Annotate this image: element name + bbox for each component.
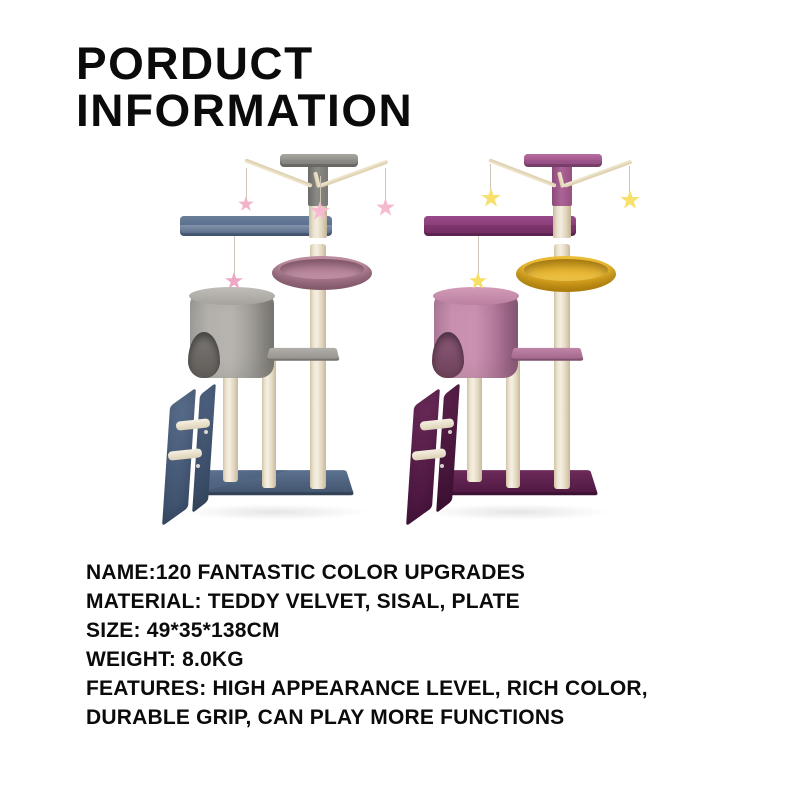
condo-entrance	[432, 332, 464, 378]
top-platform	[280, 154, 358, 167]
toy-string-right	[629, 166, 630, 192]
spec-line-weight: WEIGHT: 8.0KG	[86, 645, 766, 674]
bowl-bed-inner	[524, 259, 608, 281]
small-shelf	[510, 348, 583, 361]
top-platform-surface	[280, 154, 358, 160]
condo-house	[190, 294, 274, 378]
cat-tree-blue-grey	[170, 148, 410, 523]
spec-line-material: MATERIAL: TEDDY VELVET, SISAL, PLATE	[86, 587, 766, 616]
dangle-string-mid	[234, 236, 235, 274]
toy-string-center	[320, 176, 321, 204]
spec-line-features-2: DURABLE GRIP, CAN PLAY MORE FUNCTIONS	[86, 703, 766, 732]
small-shelf	[266, 348, 339, 361]
upper-post-sisal	[553, 202, 571, 238]
condo-lid	[189, 287, 275, 305]
page-title: PORDUCT INFORMATION	[76, 40, 736, 134]
product-image	[170, 148, 650, 523]
toy-star-right	[376, 198, 395, 217]
page-title-line-1: PORDUCT	[76, 40, 749, 87]
hammock-bed-inner	[280, 259, 364, 279]
hammock-bed	[272, 256, 372, 290]
toy-star-left	[481, 188, 501, 208]
spec-line-name: NAME:120 FANTASTIC COLOR UPGRADES	[86, 558, 766, 587]
page-title-line-2: INFORMATION	[76, 87, 749, 134]
toy-string-left	[490, 164, 491, 190]
ladder-screw-2	[440, 464, 444, 468]
cat-tree-purple	[408, 148, 648, 523]
bowl-bed	[516, 256, 616, 292]
product-spec-list: NAME:120 FANTASTIC COLOR UPGRADES MATERI…	[86, 558, 766, 732]
floor-shadow	[422, 504, 612, 520]
lower-post-left	[467, 360, 482, 482]
spec-line-size: SIZE: 49*35*138CM	[86, 616, 766, 645]
toy-star-right	[620, 190, 640, 210]
toy-string-right	[385, 168, 386, 200]
condo-house	[434, 294, 518, 378]
toy-star-left	[238, 196, 254, 212]
ladder-screw-2	[196, 464, 200, 468]
ladder-screw-1	[448, 430, 452, 434]
ladder-screw-1	[204, 430, 208, 434]
condo-entrance	[188, 332, 220, 378]
dangle-string-mid	[478, 236, 479, 274]
top-platform-surface	[524, 154, 602, 160]
top-platform	[524, 154, 602, 167]
toy-string-left	[246, 168, 247, 198]
spec-line-features-1: FEATURES: HIGH APPEARANCE LEVEL, RICH CO…	[86, 674, 766, 703]
lower-post-left	[223, 360, 238, 482]
condo-lid	[433, 287, 519, 305]
floor-shadow	[180, 504, 370, 520]
